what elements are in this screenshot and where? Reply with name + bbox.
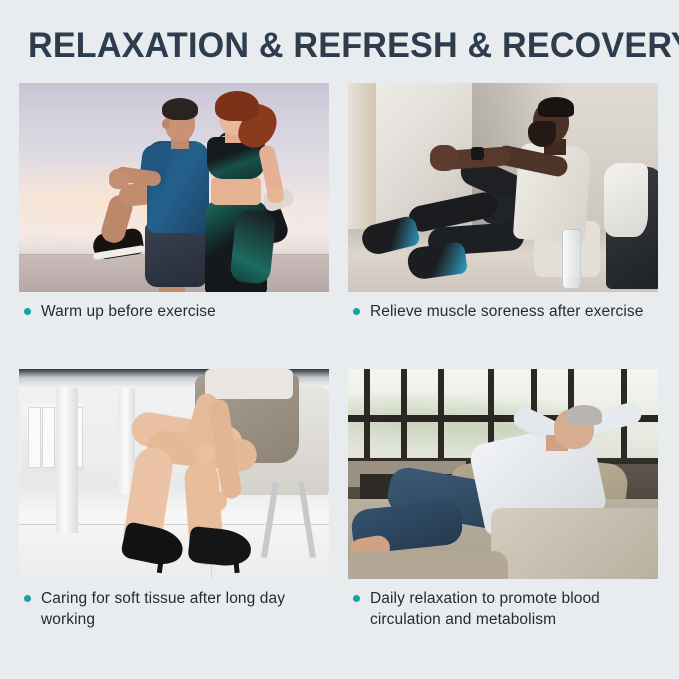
man-beard <box>528 121 556 147</box>
window-mullion <box>401 369 407 459</box>
feature-card-soft-tissue-care: Caring for soft tissue after long day wo… <box>19 369 329 663</box>
bullet-dot-icon <box>353 308 360 315</box>
woman-hair <box>215 91 259 121</box>
page-title: RELAXATION & REFRESH & RECOVERY <box>28 24 652 68</box>
water-bottle <box>562 229 581 289</box>
window-mullion <box>438 369 444 459</box>
caption-relieve-soreness: Relieve muscle soreness after exercise <box>348 301 658 322</box>
sofa-arm <box>491 508 658 579</box>
woman-hand-on-leg <box>205 491 227 511</box>
caption-warm-up: Warm up before exercise <box>19 301 329 322</box>
infographic-page: RELAXATION & REFRESH & RECOVERY <box>0 0 679 679</box>
feature-card-warm-up: Warm up before exercise <box>19 83 329 355</box>
caption-text: Relieve muscle soreness after exercise <box>370 301 658 322</box>
sofa-seat <box>348 551 508 579</box>
photo-couple-stretching <box>19 83 329 292</box>
man-hand <box>109 169 129 189</box>
binder <box>42 407 55 468</box>
towel <box>604 163 648 237</box>
caption-text: Daily relaxation to promote blood circul… <box>370 588 658 630</box>
woman-leggings-raised <box>229 209 276 285</box>
caption-text: Caring for soft tissue after long day wo… <box>41 588 329 630</box>
photo-man-resting-wall <box>348 83 658 292</box>
man-hair <box>538 97 574 117</box>
woman-top <box>205 369 293 399</box>
bullet-dot-icon <box>24 595 31 602</box>
man-ear <box>162 119 170 129</box>
caption-daily-relaxation: Daily relaxation to promote blood circul… <box>348 588 658 630</box>
smartwatch-icon <box>471 147 484 160</box>
photo-woman-office-leg <box>19 369 329 579</box>
caption-soft-tissue-care: Caring for soft tissue after long day wo… <box>19 588 329 630</box>
caption-text: Warm up before exercise <box>41 301 329 322</box>
feature-card-daily-relaxation: Daily relaxation to promote blood circul… <box>348 369 658 663</box>
wall-panel <box>348 83 376 246</box>
woman-hand <box>267 187 284 203</box>
desk-leg-left <box>56 386 78 533</box>
bullet-dot-icon <box>353 595 360 602</box>
binder <box>28 407 41 468</box>
woman-midriff <box>211 177 261 205</box>
window-mullion <box>364 369 370 459</box>
bullet-dot-icon <box>24 308 31 315</box>
man-hair <box>566 405 602 425</box>
feature-grid: Warm up before exercise <box>19 83 658 663</box>
photo-man-relaxing-sofa <box>348 369 658 579</box>
man-hair <box>162 98 198 120</box>
feature-card-relieve-soreness: Relieve muscle soreness after exercise <box>348 83 658 355</box>
man-hands <box>430 145 458 171</box>
